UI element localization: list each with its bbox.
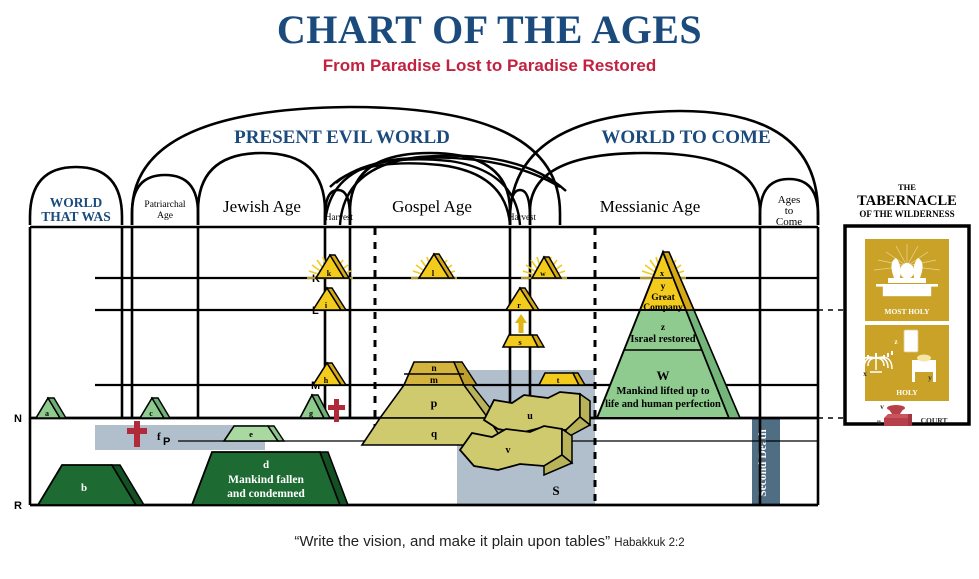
label-harvest-jewish: Harvest — [325, 212, 353, 222]
tabernacle-letter-y: y — [928, 374, 932, 382]
chart-of-the-ages-page: CHART OF THE AGES From Paradise Lost to … — [0, 0, 979, 579]
marker-l: l — [411, 254, 457, 278]
tabernacle-title-big: TABERNACLE — [857, 193, 957, 209]
great-company-line1: Great — [651, 293, 675, 303]
tabernacle-letter-x: x — [863, 370, 867, 378]
tabernacle-letter-v: v — [880, 403, 884, 411]
letter-t: t — [557, 375, 560, 385]
tabernacle-letter-z: z — [894, 338, 897, 346]
mankind-lifted-line2: life and human perfection — [605, 399, 721, 410]
letter-e: e — [249, 429, 253, 439]
marker-s: s — [503, 335, 544, 347]
holy-label: HOLY — [896, 388, 918, 397]
great-company-line2: Company — [643, 303, 683, 313]
letter-d: d — [263, 459, 269, 471]
letter-f: f — [157, 431, 161, 443]
court-label: COURT — [921, 416, 948, 425]
letter-w: w — [540, 269, 546, 278]
marker-c: c — [140, 398, 170, 418]
label-world-that-was-2: THAT WAS — [41, 209, 110, 224]
label-patriarchal-age-1: Patriarchal — [144, 200, 186, 210]
label-patriarchal-age-2: Age — [157, 211, 173, 221]
tabernacle-letter-u: u — [877, 418, 881, 426]
letter-x: x — [660, 269, 664, 278]
letter-n: n — [431, 364, 437, 374]
arrow-up-icon — [515, 314, 527, 333]
letter-k: k — [327, 269, 332, 278]
letter-u: u — [527, 411, 533, 422]
marker-h: h — [313, 363, 346, 385]
label-world-that-was-1: WORLD — [50, 195, 103, 210]
caption-reference: Habakkuk 2:2 — [614, 537, 684, 549]
letter-v: v — [506, 445, 511, 456]
label-harvest-gospel: Harvest — [508, 212, 536, 222]
mankind-fallen-line2: and condemned — [227, 488, 305, 500]
letter-a: a — [45, 409, 49, 418]
mankind-lifted-line1: Mankind lifted up to — [616, 386, 709, 397]
label-gospel-age: Gospel Age — [392, 197, 472, 216]
page-title: CHART OF THE AGES — [0, 6, 979, 53]
marker-i: i — [313, 288, 346, 310]
letter-W: W — [657, 368, 670, 383]
israel-restored-label: Israel restored — [630, 334, 695, 345]
caption-quote: “Write the vision, and make it plain upo… — [294, 533, 610, 550]
tabernacle-title-sub: OF THE WILDERNESS — [859, 209, 954, 219]
mankind-fallen-line1: Mankind fallen — [228, 474, 304, 486]
tabernacle-title-small: THE — [898, 182, 916, 192]
marker-e: e — [224, 426, 284, 441]
page-subtitle: From Paradise Lost to Paradise Restored — [0, 56, 979, 76]
tabernacle-panel: THE TABERNACLE OF THE WILDERNESS MOST HO… — [838, 178, 976, 428]
letter-g: g — [309, 409, 313, 418]
marker-w: w — [521, 256, 567, 278]
label-present-evil-world: PRESENT EVIL WORLD — [234, 127, 450, 148]
marker-d: d Mankind fallen and condemned — [192, 452, 348, 505]
plane-n-triangles: a c g — [36, 395, 330, 418]
arch-present-evil-world — [132, 107, 560, 225]
chart-canvas: WORLD THAT WAS PRESENT EVIL WORLD WORLD … — [0, 95, 979, 525]
caption: “Write the vision, and make it plain upo… — [0, 533, 979, 550]
marker-b: b — [38, 465, 144, 505]
letter-r: r — [517, 301, 521, 310]
label-world-to-come: WORLD TO COME — [601, 127, 770, 148]
row-label-R: R — [14, 500, 22, 512]
most-holy-label: MOST HOLY — [884, 307, 930, 316]
marker-a: a — [36, 398, 66, 418]
label-jewish-age: Jewish Age — [223, 197, 301, 216]
label-messianic-age: Messianic Age — [600, 197, 701, 216]
marker-t: t — [539, 373, 585, 385]
letter-h: h — [324, 376, 329, 385]
letter-b: b — [81, 482, 87, 494]
brazen-altar-icon — [884, 414, 912, 426]
letter-c: c — [149, 409, 153, 418]
incense-altar-icon — [904, 330, 918, 352]
letter-q: q — [431, 428, 438, 440]
row-label-P: P — [163, 436, 170, 448]
letter-y: y — [661, 282, 666, 292]
letter-S: S — [552, 483, 559, 498]
letter-p: p — [431, 396, 438, 410]
row-label-N: N — [14, 413, 22, 425]
